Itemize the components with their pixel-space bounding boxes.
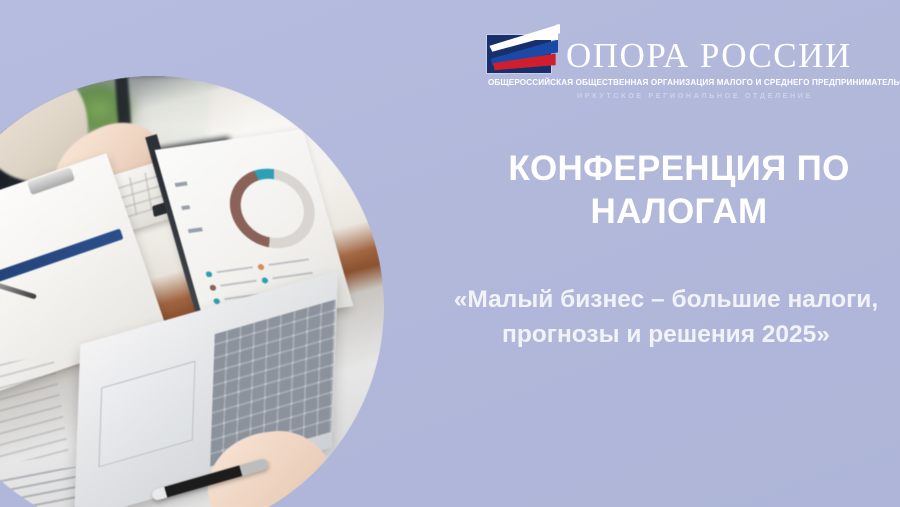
conference-announcement-slide: ОПОРА РОССИИ ОБЩЕРОССИЙСКАЯ ОБЩЕСТВЕННАЯ… bbox=[0, 0, 900, 507]
opora-rossii-logo: ОПОРА РОССИИ ОБЩЕРОССИЙСКАЯ ОБЩЕСТВЕННАЯ… bbox=[486, 16, 874, 108]
document-text-lines-left bbox=[0, 355, 69, 477]
logo-tagline-region: ИРКУТСКОЕ РЕГИОНАЛЬНОЕ ОТДЕЛЕНИЕ bbox=[486, 91, 874, 100]
logo-organization-name: ОПОРА РОССИИ bbox=[566, 38, 852, 74]
logo-tagline-primary: ОБЩЕРОССИЙСКАЯ ОБЩЕСТВЕННАЯ ОРГАНИЗАЦИЯ … bbox=[488, 78, 872, 87]
meeting-photo-image bbox=[0, 76, 384, 507]
document-text-lines-bottom bbox=[0, 467, 86, 507]
russian-flag-emblem-icon bbox=[486, 24, 558, 74]
screen-chart-labels bbox=[173, 171, 238, 252]
logo-main-row: ОПОРА РОССИИ bbox=[486, 16, 874, 74]
page-title: КОНФЕРЕНЦИЯ ПО НАЛОГАМ bbox=[470, 148, 888, 233]
page-subtitle: «Малый бизнес – большие налоги, прогнозы… bbox=[440, 283, 892, 353]
meeting-photo bbox=[0, 76, 384, 507]
